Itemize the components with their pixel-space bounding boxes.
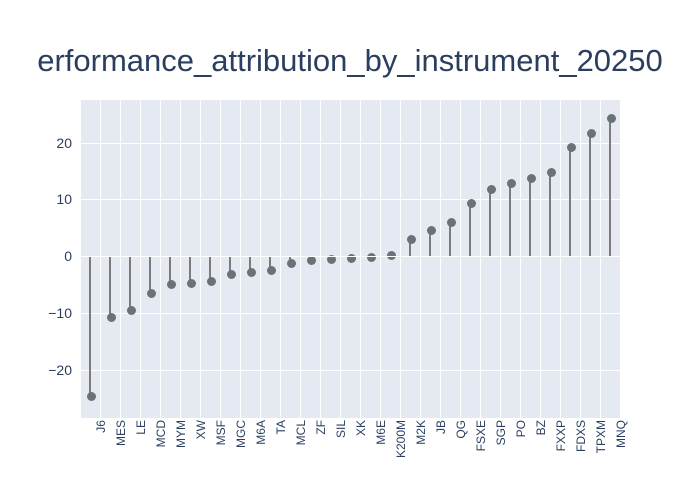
data-point-marker [307,256,316,265]
data-point-marker [187,279,196,288]
data-point-marker [287,259,296,268]
x-gridline [420,100,421,418]
zero-baseline [80,256,620,257]
x-gridline [360,100,361,418]
data-point-marker [587,129,596,138]
x-gridline [180,100,181,418]
stem-line [149,256,151,293]
y-gridline [80,313,620,314]
x-gridline [480,100,481,418]
stem-line [529,178,531,256]
x-tick-label: JB [435,420,447,434]
y-tick-label: 20 [2,136,72,150]
plot-area [80,100,620,418]
stem-line [109,256,111,317]
x-tick-label: ZF [315,420,327,435]
x-tick-label: SIL [335,420,347,438]
x-gridline [380,100,381,418]
x-gridline [260,100,261,418]
x-tick-label: FDXS [575,420,587,452]
data-point-marker [247,268,256,277]
x-tick-label: PO [515,420,527,437]
data-point-marker [607,114,616,123]
stem-line [609,118,611,256]
stem-line [449,223,451,257]
chart-figure: erformance_attribution_by_instrument_202… [0,0,700,500]
x-tick-label: TPXM [595,420,607,453]
x-gridline [560,100,561,418]
data-point-marker [527,174,536,183]
data-point-marker [227,270,236,279]
data-point-marker [267,266,276,275]
y-gridline [80,143,620,144]
x-tick-label: MCL [295,420,307,445]
y-tick-label: 0 [2,249,72,263]
y-tick-label: 10 [2,192,72,206]
x-tick-label: LE [135,420,147,435]
x-gridline [580,100,581,418]
stem-line [469,204,471,256]
stem-line [89,256,91,396]
x-tick-label: QG [455,420,467,439]
y-tick-label: −10 [2,306,72,320]
x-tick-label: FSXE [475,420,487,451]
x-gridline [520,100,521,418]
data-point-marker [567,143,576,152]
stem-line [569,147,571,256]
x-gridline [340,100,341,418]
x-tick-label: MSF [215,420,227,445]
page-title: erformance_attribution_by_instrument_202… [0,42,700,80]
data-point-marker [107,313,116,322]
x-tick-label: BZ [535,420,547,435]
x-gridline [240,100,241,418]
data-point-marker [467,199,476,208]
stem-line [549,172,551,256]
x-gridline [160,100,161,418]
x-gridline [540,100,541,418]
x-gridline [600,100,601,418]
x-gridline [140,100,141,418]
y-gridline [80,370,620,371]
x-tick-label: MES [115,420,127,446]
x-gridline [220,100,221,418]
data-point-marker [387,251,396,260]
data-point-marker [127,306,136,315]
y-gridline [80,199,620,200]
x-gridline [400,100,401,418]
x-tick-label: SGP [495,420,507,445]
data-point-marker [507,179,516,188]
x-gridline [500,100,501,418]
x-tick-label: J6 [95,420,107,433]
x-tick-label: MCD [155,420,167,447]
data-point-marker [447,218,456,227]
y-axis: −20−1001020 [0,100,72,418]
stem-line [589,134,591,257]
x-tick-label: M6A [255,420,267,445]
x-tick-label: K200M [395,420,407,458]
x-gridline [300,100,301,418]
x-tick-label: XK [355,420,367,436]
stem-line [509,183,511,256]
stem-line [489,189,491,256]
stem-line [129,256,131,311]
x-gridline [320,100,321,418]
data-point-marker [487,185,496,194]
x-gridline [200,100,201,418]
x-tick-label: XW [195,420,207,439]
x-gridline [120,100,121,418]
data-point-marker [407,235,416,244]
x-tick-label: MNQ [615,420,627,448]
x-tick-label: FXXP [555,420,567,451]
x-tick-label: TA [275,420,287,434]
x-gridline [440,100,441,418]
data-point-marker [547,168,556,177]
x-tick-label: MYM [175,420,187,448]
x-gridline [100,100,101,418]
x-tick-label: M2K [415,420,427,445]
data-point-marker [147,289,156,298]
x-gridline [80,100,81,418]
x-gridline [280,100,281,418]
x-tick-label: MGC [235,420,247,448]
data-point-marker [87,392,96,401]
data-point-marker [167,280,176,289]
data-point-marker [367,253,376,262]
data-point-marker [207,277,216,286]
x-tick-label: M6E [375,420,387,445]
data-point-marker [427,226,436,235]
x-gridline [460,100,461,418]
y-tick-label: −20 [2,363,72,377]
x-axis: J6MESLEMCDMYMXWMSFMGCM6ATAMCLZFSILXKM6EK… [80,420,620,500]
